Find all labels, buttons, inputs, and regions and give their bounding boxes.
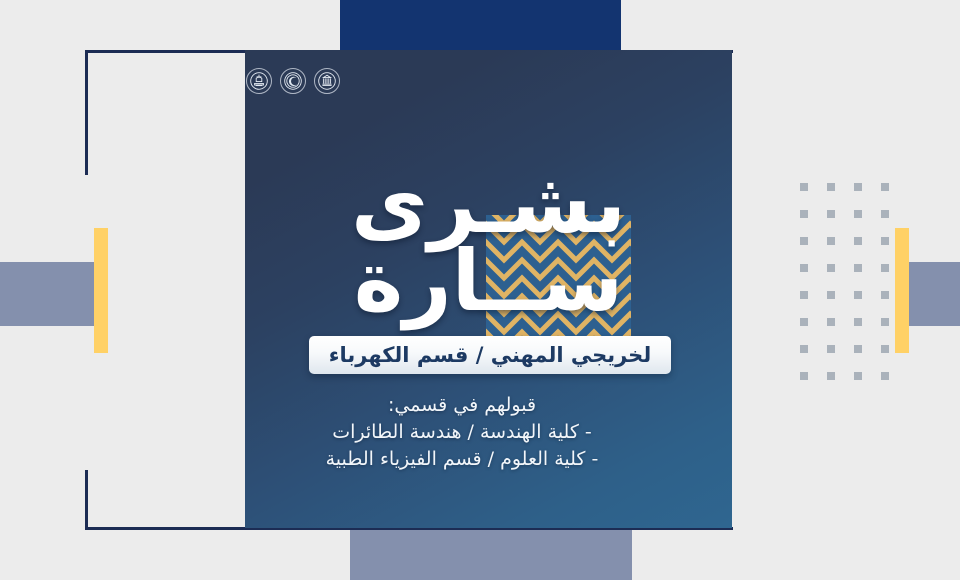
body-item-line-2: - كلية العلوم / قسم الفيزياء الطبية (245, 446, 679, 473)
dot-grid-cell (881, 291, 889, 299)
frame-left-lower-line (85, 470, 88, 530)
deco-right-yellow-bar (895, 228, 909, 353)
dot-grid-cell (881, 210, 889, 218)
dot-grid-cell (800, 237, 808, 245)
dot-grid-cell (800, 318, 808, 326)
dot-grid-cell (854, 291, 862, 299)
dot-grid-cell (881, 318, 889, 326)
headline-block: بشـرى ســارة (245, 162, 732, 362)
deco-right-slate-rect (900, 262, 960, 326)
deco-top-blue-rect (340, 0, 621, 50)
dot-grid-cell (854, 264, 862, 272)
headline-line-2: ســارة (245, 242, 732, 320)
dot-grid-cell (800, 345, 808, 353)
emblem-logo-row (246, 68, 340, 94)
dot-grid-cell (827, 264, 835, 272)
dot-grid-cell (854, 183, 862, 191)
deco-left-yellow-bar (94, 228, 108, 353)
ministry-emblem-icon (246, 68, 272, 94)
dot-grid-cell (800, 291, 808, 299)
dot-grid-cell (881, 183, 889, 191)
poster-canvas: بشـرى ســارة (0, 0, 960, 580)
university-emblem-icon (280, 68, 306, 94)
headline-line-1: بشـرى (245, 164, 732, 242)
dot-grid-cell (827, 372, 835, 380)
headline-text: بشـرى ســارة (245, 162, 732, 362)
dot-grid-cell (800, 264, 808, 272)
dot-grid-cell (800, 372, 808, 380)
dot-grid-cell (854, 345, 862, 353)
dot-grid-cell (827, 210, 835, 218)
dot-grid-cell (827, 237, 835, 245)
dot-grid-cell (827, 183, 835, 191)
dot-grid-cell (881, 345, 889, 353)
dot-grid-cell (854, 237, 862, 245)
body-text-block: قبولهم في قسمي: - كلية الهندسة / هندسة ا… (245, 392, 679, 473)
body-intro-line: قبولهم في قسمي: (245, 392, 679, 419)
college-emblem-icon (314, 68, 340, 94)
dot-grid-cell (881, 264, 889, 272)
subtitle-banner-text: لخريجي المهني / قسم الكهرباء (329, 343, 651, 367)
dot-grid-cell (854, 210, 862, 218)
body-item-line-1: - كلية الهندسة / هندسة الطائرات (245, 419, 679, 446)
dot-grid-decoration (800, 183, 889, 380)
deco-left-slate-rect (0, 262, 102, 326)
dot-grid-cell (827, 291, 835, 299)
dot-grid-cell (854, 318, 862, 326)
subtitle-banner: لخريجي المهني / قسم الكهرباء (309, 336, 671, 374)
dot-grid-cell (800, 210, 808, 218)
dot-grid-cell (800, 183, 808, 191)
dot-grid-cell (827, 345, 835, 353)
dot-grid-cell (854, 372, 862, 380)
dot-grid-cell (881, 372, 889, 380)
frame-left-upper-line (85, 50, 88, 175)
dot-grid-cell (827, 318, 835, 326)
dot-grid-cell (881, 237, 889, 245)
